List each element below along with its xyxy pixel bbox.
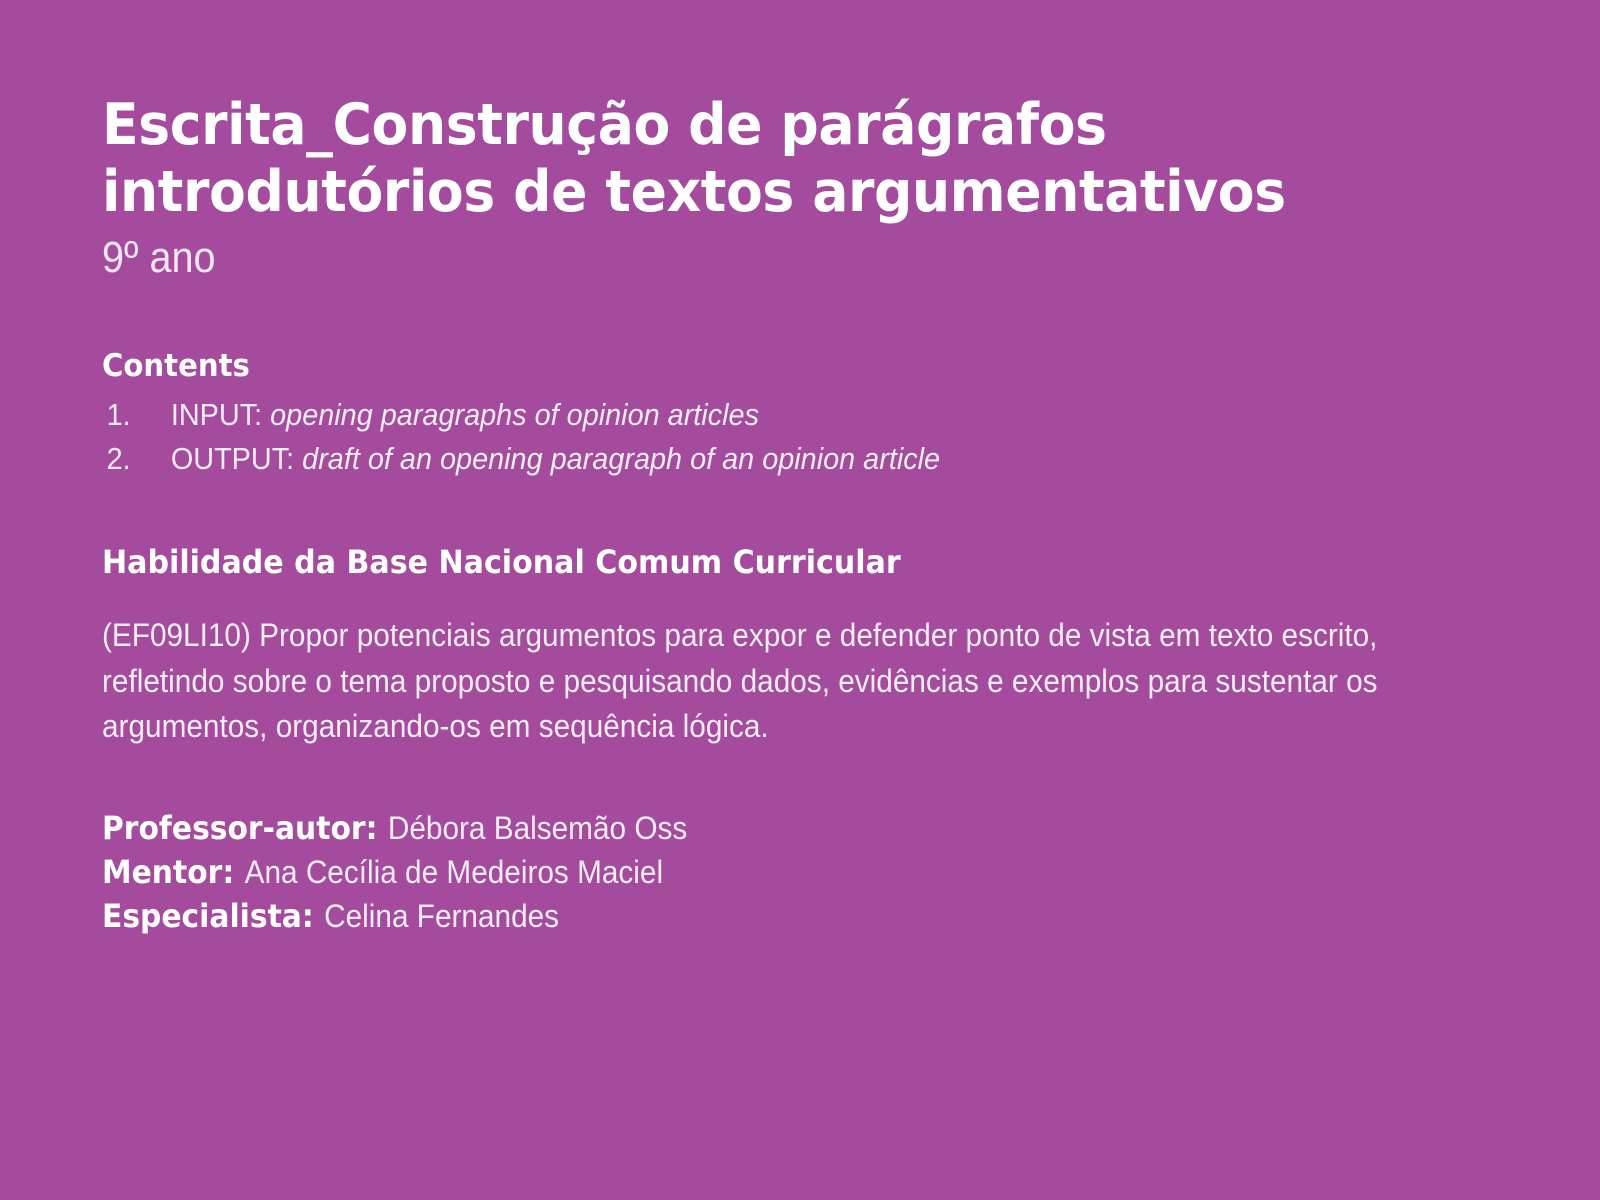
credit-person-name: Ana Cecília de Medeiros Maciel [245, 854, 663, 890]
credit-mentor: Mentor: Ana Cecília de Medeiros Maciel [102, 850, 1421, 894]
skill-heading: Habilidade da Base Nacional Comum Curric… [102, 543, 1435, 581]
contents-list: 1. INPUT: opening paragraphs of opinion … [102, 393, 1520, 481]
credits-section: Professor-autor: Débora Balsemão Oss Men… [102, 806, 1520, 938]
credit-role-label: Especialista: [102, 897, 324, 935]
contents-section: Contents 1. INPUT: opening paragraphs of… [102, 348, 1520, 481]
list-item-number: 1. [102, 393, 171, 437]
credit-professor-autor: Professor-autor: Débora Balsemão Oss [102, 806, 1421, 850]
list-item-lead: INPUT: [171, 397, 270, 432]
credit-especialista: Especialista: Celina Fernandes [102, 894, 1421, 938]
slide: Escrita_Construção de parágrafos introdu… [0, 0, 1600, 1200]
credit-person-name: Celina Fernandes [324, 898, 559, 934]
page-title: Escrita_Construção de parágrafos introdu… [102, 92, 1435, 227]
list-item: 1. INPUT: opening paragraphs of opinion … [102, 393, 1421, 437]
skill-description: (EF09LI10) Propor potenciais argumentos … [102, 613, 1421, 749]
list-item: 2. OUTPUT: draft of an opening paragraph… [102, 437, 1421, 481]
list-item-text: INPUT: opening paragraphs of opinion art… [171, 393, 759, 437]
list-item-text: OUTPUT: draft of an opening paragraph of… [171, 437, 940, 481]
credit-person-name: Débora Balsemão Oss [388, 810, 687, 846]
list-item-lead: OUTPUT: [171, 441, 302, 476]
contents-heading: Contents [102, 348, 1435, 385]
skill-section: Habilidade da Base Nacional Comum Curric… [102, 543, 1520, 750]
list-item-number: 2. [102, 437, 171, 481]
credit-role-label: Professor-autor: [102, 809, 388, 847]
credit-role-label: Mentor: [102, 853, 245, 891]
grade-subtitle: 9º ano [102, 233, 1378, 282]
list-item-description: opening paragraphs of opinion articles [270, 397, 759, 432]
list-item-description: draft of an opening paragraph of an opin… [302, 441, 940, 476]
